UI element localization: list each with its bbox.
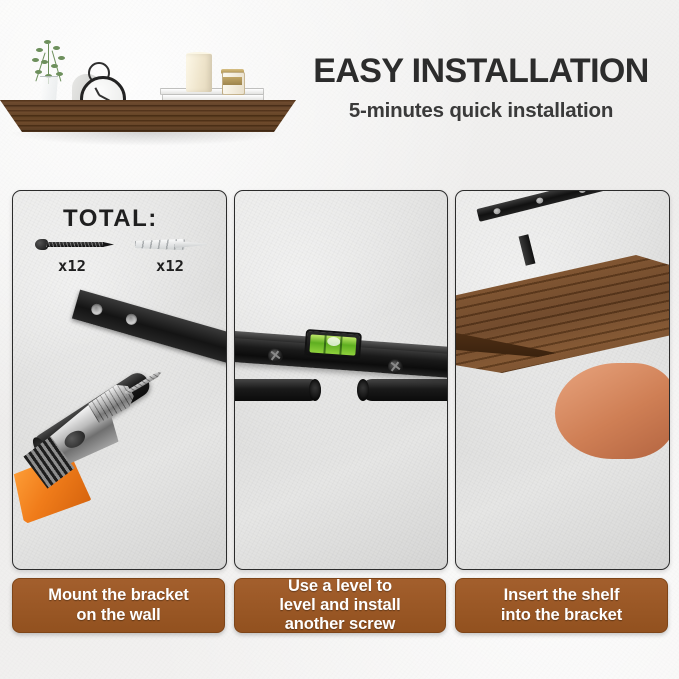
step-panel-2 bbox=[234, 190, 448, 570]
page-title: EASY INSTALLATION bbox=[286, 54, 676, 88]
step-caption-2: Use a level tolevel and installanother s… bbox=[234, 578, 446, 633]
mounted-screw-right bbox=[388, 359, 403, 374]
infographic-root: EASY INSTALLATION 5-minutes quick instal… bbox=[0, 0, 679, 679]
total-label: TOTAL: bbox=[63, 205, 158, 233]
wood-screw-icon bbox=[35, 239, 113, 250]
jar-candle-label bbox=[223, 77, 242, 85]
mounted-screw-left bbox=[268, 348, 283, 363]
pillar-candle bbox=[186, 54, 212, 92]
wooden-shelf-board bbox=[455, 255, 670, 373]
step-panel-3 bbox=[455, 190, 670, 570]
screw-count-label: x12 bbox=[58, 257, 86, 275]
hero-section: EASY INSTALLATION 5-minutes quick instal… bbox=[0, 0, 679, 178]
power-drill-icon bbox=[12, 338, 227, 552]
bracket-rod-left bbox=[234, 379, 321, 401]
step-caption-3: Insert the shelfinto the bracket bbox=[455, 578, 668, 633]
wall-anchor-icon bbox=[135, 237, 207, 251]
floating-shelf-board bbox=[0, 100, 296, 132]
styled-shelf-photo bbox=[0, 24, 300, 154]
step-panel-1: TOTAL: x12 x12 bbox=[12, 190, 227, 570]
bubble-level-icon bbox=[304, 329, 362, 361]
rail-support-rod bbox=[519, 234, 536, 266]
shelf-shadow bbox=[6, 132, 286, 146]
hand-icon bbox=[555, 363, 670, 459]
hero-text-block: EASY INSTALLATION 5-minutes quick instal… bbox=[286, 54, 676, 123]
bracket-rod-right bbox=[361, 379, 448, 401]
page-subtitle: 5-minutes quick installation bbox=[286, 99, 676, 123]
wall-mounted-rail bbox=[476, 190, 670, 222]
anchor-count-label: x12 bbox=[156, 257, 184, 275]
step-caption-1: Mount the bracketon the wall bbox=[12, 578, 225, 633]
